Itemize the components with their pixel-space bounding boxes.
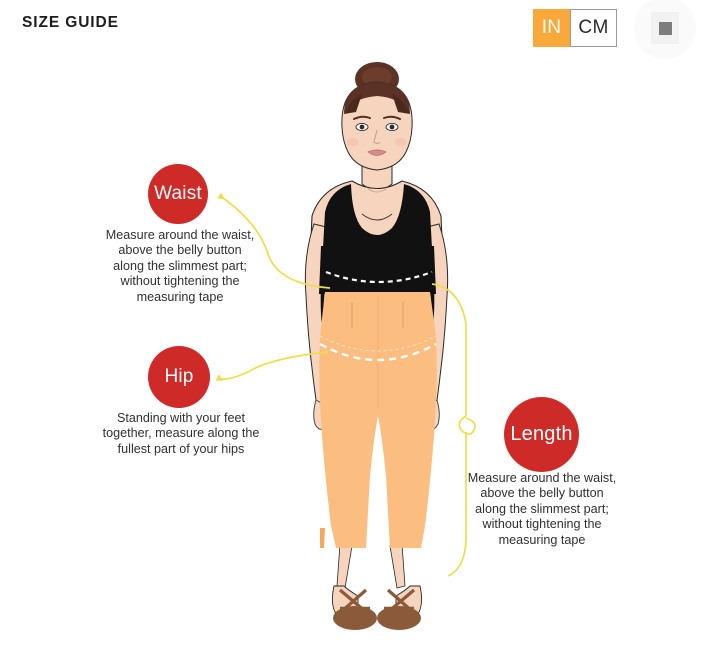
callout-description-waist: Measure around the waist, above the bell…: [92, 228, 268, 305]
callout-description-length: Measure around the waist, above the bell…: [456, 471, 628, 548]
length-desc-line-5: measuring tape: [456, 533, 628, 548]
length-desc-line-4: without tightening the: [456, 517, 628, 532]
page-title: SIZE GUIDE: [22, 14, 119, 32]
hip-desc-line-3: fullest part of your hips: [90, 442, 272, 457]
callout-badge-length[interactable]: Length: [504, 397, 579, 472]
waist-desc-line-5: measuring tape: [92, 290, 268, 305]
callout-badge-hip[interactable]: Hip: [148, 346, 210, 408]
modal-header: SIZE GUIDE IN CM: [0, 0, 701, 56]
callout-description-hip: Standing with your feet together, measur…: [90, 411, 272, 457]
unit-toggle-group[interactable]: IN CM: [533, 9, 617, 47]
hip-desc-line-1: Standing with your feet: [90, 411, 272, 426]
length-leader-loop: [459, 416, 475, 434]
hip-leader-line: [218, 352, 328, 379]
length-desc-line-1: Measure around the waist,: [456, 471, 628, 486]
hip-desc-line-2: together, measure along the: [90, 426, 272, 441]
close-square-icon: [651, 12, 679, 44]
waist-desc-line-3: along the slimmest part;: [92, 259, 268, 274]
waist-desc-line-2: above the belly button: [92, 243, 268, 258]
measurement-diagram: Waist Hip Length Measure around the wais…: [0, 56, 701, 650]
close-button[interactable]: [634, 0, 696, 59]
waist-desc-line-4: without tightening the: [92, 274, 268, 289]
waist-desc-line-1: Measure around the waist,: [92, 228, 268, 243]
length-desc-line-3: along the slimmest part;: [456, 502, 628, 517]
size-guide-modal: SIZE GUIDE IN CM: [0, 0, 701, 650]
length-desc-line-2: above the belly button: [456, 486, 628, 501]
callout-badge-waist[interactable]: Waist: [148, 164, 208, 224]
unit-toggle-cm[interactable]: CM: [570, 9, 617, 47]
leader-lines: [0, 56, 701, 650]
unit-toggle-in[interactable]: IN: [533, 9, 570, 47]
close-glyph: [659, 22, 672, 35]
length-leader-top: [432, 284, 466, 416]
